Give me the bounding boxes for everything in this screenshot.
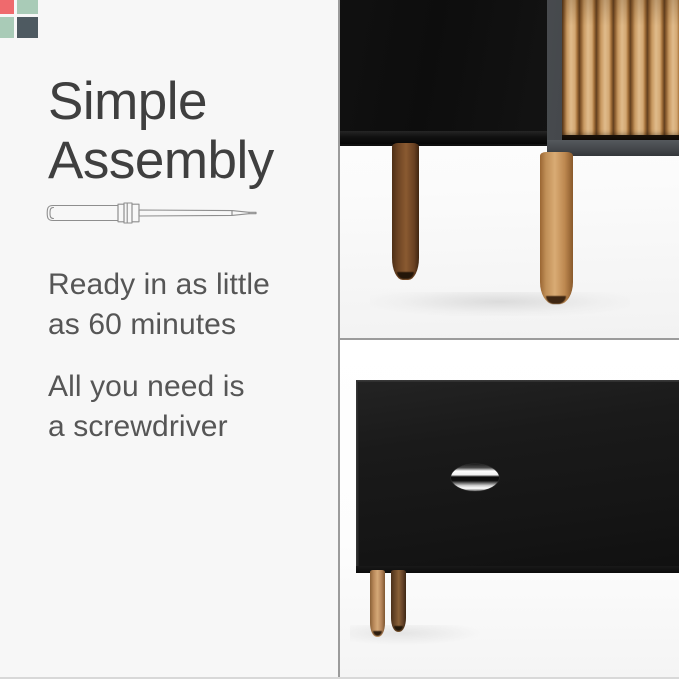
cabinet-corner-with-fluted-door-photo: [340, 0, 679, 338]
wooden-leg-left: [370, 570, 385, 637]
cabinet-panel-with-oval-cutout-photo: [340, 340, 679, 679]
panel-divider-horizontal: [338, 338, 679, 340]
cabinet-black-bottom-lip: [340, 131, 550, 144]
body-paragraph-1-line-2: as 60 minutes: [48, 305, 334, 345]
logo-square-sage-2: [0, 17, 14, 39]
four-square-logo: [0, 0, 38, 38]
logo-square-charcoal: [17, 17, 39, 39]
oval-cable-cutout: [451, 464, 499, 491]
body-paragraph-1: Ready in as little as 60 minutes: [48, 265, 334, 345]
left-text-panel: Simple Assembly Ready in a: [0, 0, 338, 679]
body-paragraph-2: All you need is a screwdriver: [48, 367, 334, 447]
screwdriver-icon: [44, 191, 260, 235]
body-paragraph-2-line-1: All you need is: [48, 367, 334, 407]
cabinet-left-edge: [356, 382, 359, 572]
fluted-wood-slat-panel: [562, 0, 679, 137]
infographic-canvas: Simple Assembly Ready in a: [0, 0, 679, 679]
logo-square-coral: [0, 0, 14, 14]
body-paragraph-2-line-2: a screwdriver: [48, 407, 334, 447]
page-title-line-1: Simple: [48, 72, 338, 132]
page-title-line-2: Assembly: [48, 131, 338, 191]
cabinet-front-panel: [356, 382, 679, 572]
wooden-leg-right: [391, 570, 406, 632]
wooden-leg-left: [392, 143, 419, 280]
floor-shadow: [370, 292, 630, 316]
page-title: Simple Assembly: [48, 72, 338, 192]
logo-square-sage: [17, 0, 39, 14]
body-paragraph-1-line-1: Ready in as little: [48, 265, 334, 305]
cabinet-black-side-panel: [340, 0, 550, 146]
wooden-leg-right: [540, 152, 573, 304]
